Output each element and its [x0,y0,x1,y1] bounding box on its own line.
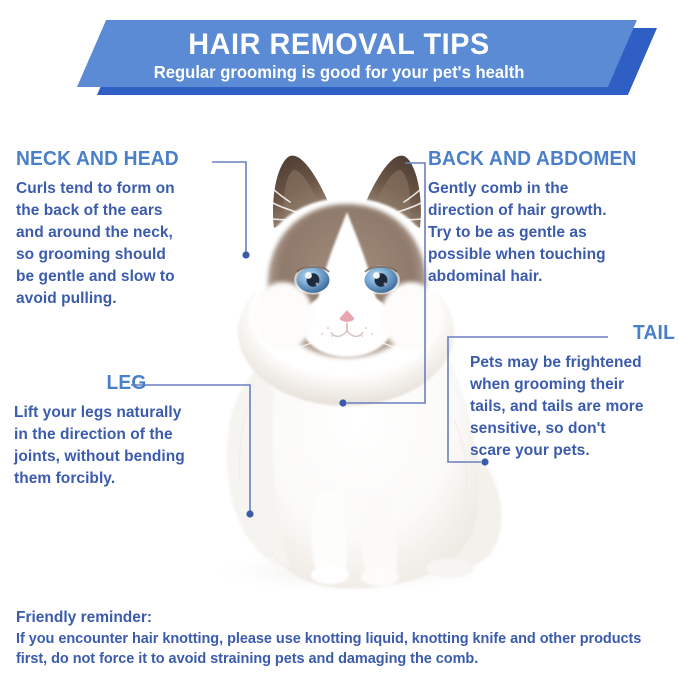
section-title-neck-and-head: NECK AND HEAD [16,148,222,170]
banner-text-group: HAIR REMOVAL TIPS Regular grooming is go… [0,20,679,90]
page-subtitle: Regular grooming is good for your pet's … [154,63,525,81]
section-body-back-and-abdomen: Gently comb in the direction of hair gro… [428,178,678,288]
section-neck-and-head: NECK AND HEAD Curls tend to form on the … [16,148,231,310]
section-title-tail: TAIL [478,322,675,344]
section-body-leg: Lift your legs naturally in the directio… [14,402,239,490]
friendly-reminder-body: If you encounter hair knotting, please u… [16,630,666,669]
section-body-neck-and-head: Curls tend to form on the back of the ea… [16,178,231,310]
section-body-tail: Pets may be frightened when grooming the… [470,352,675,462]
page-title: HAIR REMOVAL TIPS [189,29,491,61]
header-banner: HAIR REMOVAL TIPS Regular grooming is go… [0,0,679,100]
section-title-leg: LEG [19,372,235,394]
section-back-and-abdomen: BACK AND ABDOMEN Gently comb in the dire… [428,148,678,288]
section-title-back-and-abdomen: BACK AND ABDOMEN [428,148,668,170]
friendly-reminder: Friendly reminder: If you encounter hair… [16,608,666,669]
section-leg: LEG Lift your legs naturally in the dire… [14,372,239,490]
section-tail: TAIL Pets may be frightened when groomin… [470,322,675,462]
infographic-root: HAIR REMOVAL TIPS Regular grooming is go… [0,0,679,679]
friendly-reminder-title: Friendly reminder: [16,608,666,628]
